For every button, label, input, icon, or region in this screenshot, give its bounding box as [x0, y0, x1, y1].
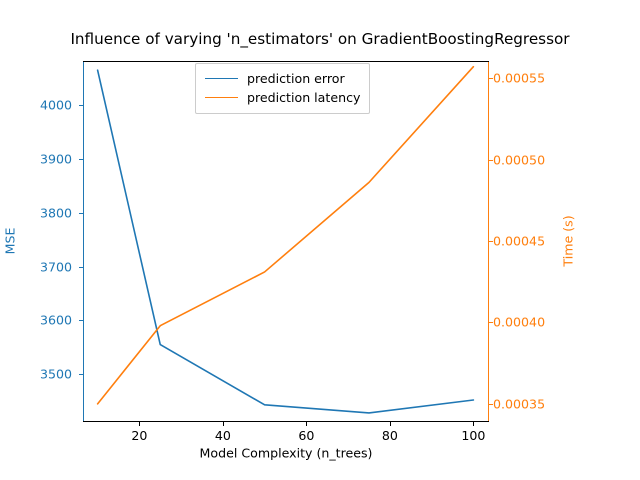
x-axis-tick-mark — [139, 422, 140, 426]
y-axis-right-tick-label: 0.00035 — [493, 396, 545, 411]
line-prediction-latency — [98, 67, 474, 404]
y-axis-left-label: MSE — [3, 228, 18, 255]
chart-title: Influence of varying 'n_estimators' on G… — [0, 30, 640, 48]
y-axis-left-tick-mark — [79, 213, 83, 214]
y-axis-right-tick-mark — [489, 404, 493, 405]
matplotlib-figure: Influence of varying 'n_estimators' on G… — [0, 0, 640, 480]
x-axis-tick-mark — [390, 422, 391, 426]
legend-label: prediction error — [247, 71, 345, 86]
x-axis-label: Model Complexity (n_trees) — [200, 446, 373, 461]
y-axis-left-tick-label: 3900 — [30, 151, 72, 166]
y-axis-right-tick-label: 0.00045 — [493, 234, 545, 249]
y-axis-right-tick-mark — [489, 241, 493, 242]
x-axis-tick-label: 80 — [382, 428, 398, 443]
y-axis-right-tick-mark — [489, 78, 493, 79]
y-axis-left-tick-mark — [79, 267, 83, 268]
plot-area — [83, 61, 489, 422]
y-axis-right-tick-label: 0.00050 — [493, 152, 545, 167]
x-axis-tick-label: 40 — [215, 428, 231, 443]
y-axis-right-tick-mark — [489, 160, 493, 161]
line-prediction-error — [98, 70, 474, 413]
legend-item-prediction-latency: prediction latency — [205, 88, 360, 107]
y-axis-left-tick-label: 3700 — [30, 259, 72, 274]
y-axis-left-tick-mark — [79, 159, 83, 160]
y-axis-left-tick-mark — [79, 105, 83, 106]
x-axis-tick-label: 100 — [461, 428, 485, 443]
y-axis-right-tick-mark — [489, 322, 493, 323]
x-axis-tick-mark — [306, 422, 307, 426]
x-axis-tick-label: 20 — [131, 428, 147, 443]
y-axis-left-tick-mark — [79, 374, 83, 375]
y-axis-left-tick-label: 4000 — [30, 98, 72, 113]
y-axis-left-tick-label: 3800 — [30, 205, 72, 220]
legend-swatch-icon — [205, 97, 238, 98]
y-axis-left-tick-mark — [79, 320, 83, 321]
y-axis-left-tick-label: 3600 — [30, 313, 72, 328]
legend-item-prediction-error: prediction error — [205, 69, 360, 88]
legend: prediction error prediction latency — [195, 63, 370, 114]
y-axis-right-label: Time (s) — [561, 215, 576, 266]
y-axis-right-tick-label: 0.00055 — [493, 71, 545, 86]
legend-swatch-icon — [205, 78, 238, 79]
x-axis-tick-label: 60 — [298, 428, 314, 443]
y-axis-left-tick-label: 3500 — [30, 367, 72, 382]
x-axis-tick-mark — [223, 422, 224, 426]
legend-label: prediction latency — [247, 90, 360, 105]
x-axis-tick-mark — [473, 422, 474, 426]
series-lines — [83, 61, 489, 422]
y-axis-right-tick-label: 0.00040 — [493, 315, 545, 330]
